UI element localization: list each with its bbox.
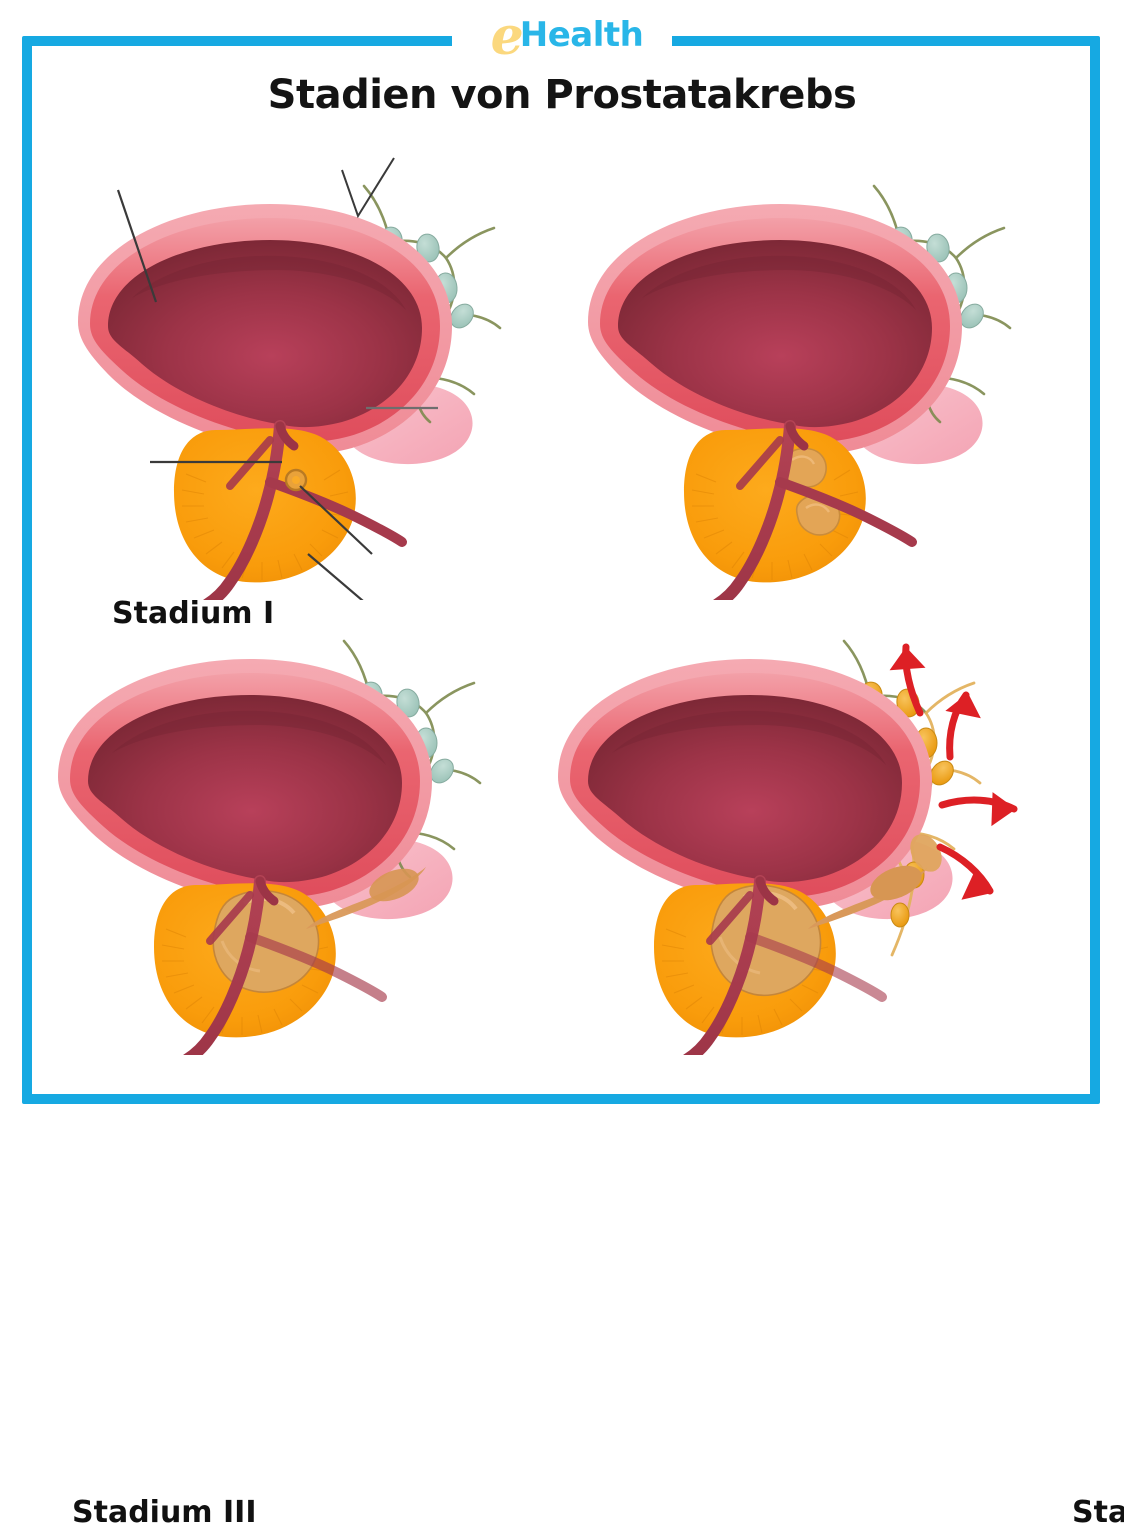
stage-label-4: Stadium IV: [1072, 1495, 1124, 1530]
stage-label-1: Stadium I: [112, 596, 274, 631]
tumor: [286, 470, 306, 490]
stage-3-illustration: [22, 585, 542, 1055]
logo-health-text: Health: [520, 18, 644, 52]
stage-panel-2: Stadium II: [552, 130, 1072, 600]
stage-4-illustration: [522, 585, 1042, 1055]
bladder: [78, 204, 452, 454]
stage-label-3: Stadium III: [72, 1495, 257, 1530]
ehealth-logo: e Health: [452, 6, 682, 64]
stage-panel-3: Stadium III: [22, 585, 542, 1055]
page-title: Stadien von Prostatakrebs: [0, 72, 1124, 118]
infographic-page: e Health Stadien von Prostatakrebs: [0, 0, 1124, 1124]
bladder: [588, 204, 962, 454]
stage-panel-4: Stadium IV: [522, 585, 1042, 1055]
stage-panel-1: Stadium I: [42, 130, 562, 600]
bladder: [58, 659, 432, 909]
logo-e-glyph: e: [491, 11, 524, 63]
bladder: [558, 659, 932, 909]
stage-1-illustration: [42, 130, 562, 600]
stage-2-illustration: [552, 130, 1072, 600]
